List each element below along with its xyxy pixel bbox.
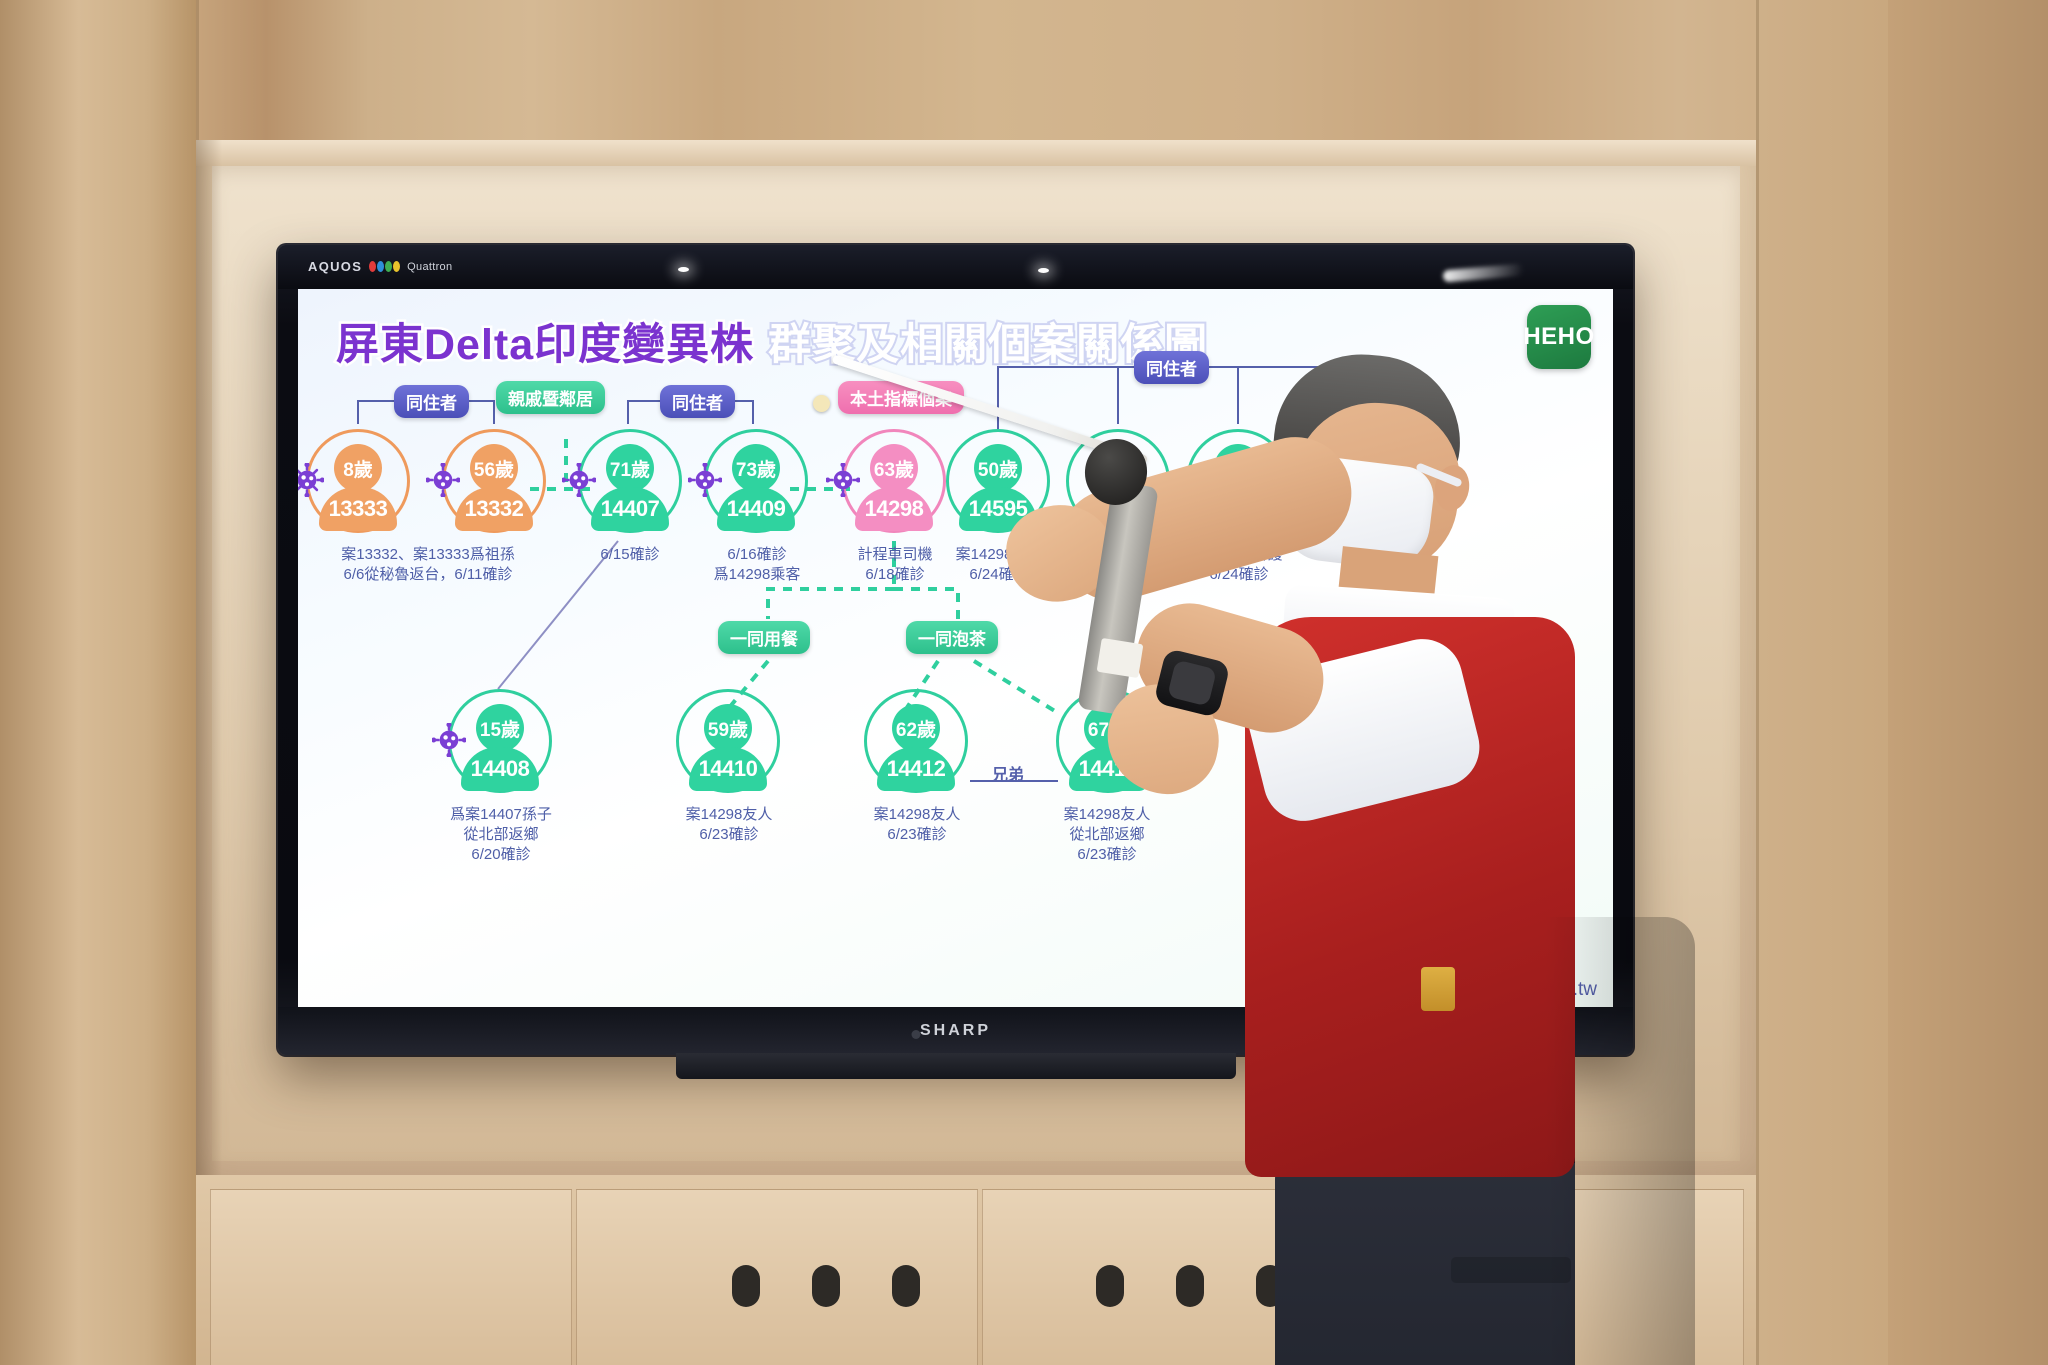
tv-led-left (678, 267, 689, 272)
case-node-14408[interactable]: 15歲 14408 (448, 689, 552, 793)
case-node-14409[interactable]: 73歲 14409 (704, 429, 808, 533)
sharp-wordmark: SHARP (920, 1022, 991, 1040)
tv-top-bezel: AQUOS Quattron (278, 245, 1633, 289)
case-age: 56歲 (470, 444, 518, 492)
relation-label-cohabitant-2: 同住者 (660, 385, 735, 418)
case-age: 63歲 (870, 444, 918, 492)
case-caption-14408: 爲案14407孫子 從北部返鄉 6/20確診 (426, 805, 576, 864)
tv-led-mid (1038, 268, 1049, 273)
case-node-13333[interactable]: 8歲 13333 (306, 429, 410, 533)
wall-left-panel (0, 0, 196, 1365)
tv-recess-lip (196, 140, 1756, 166)
virus-icon (688, 463, 722, 497)
case-caption-14407: 6/15確診 (560, 545, 700, 565)
presenter-trousers (1275, 1145, 1575, 1365)
aquos-wordmark: AQUOS (308, 259, 362, 274)
presenter (1125, 355, 1585, 1365)
relation-label-tea-together: 一同泡茶 (906, 621, 998, 654)
case-age: 71歲 (606, 444, 654, 492)
relation-label-cohabitant-1: 同住者 (394, 385, 469, 418)
virus-icon (432, 723, 466, 757)
pointer-stick-tip (813, 395, 830, 412)
relation-label-relative-neighbor: 親戚暨鄰居 (496, 381, 605, 414)
tv-bezel-glare (1443, 264, 1524, 283)
case-age: 73歲 (732, 444, 780, 492)
relation-label-dine-together: 一同用餐 (718, 621, 810, 654)
case-age: 15歲 (476, 704, 524, 752)
case-age: 62歲 (892, 704, 940, 752)
case-node-14407[interactable]: 71歲 14407 (578, 429, 682, 533)
quattron-wordmark: Quattron (407, 261, 452, 273)
wall-right-panel (1888, 0, 2048, 1365)
case-age: 50歲 (974, 444, 1022, 492)
cabinet-door-1[interactable] (210, 1189, 572, 1365)
case-node-14410[interactable]: 59歲 14410 (676, 689, 780, 793)
watch-face (1167, 659, 1217, 706)
aquos-brand-badge: AQUOS Quattron (308, 259, 452, 274)
relation-label-brothers: 兄弟 (992, 761, 1024, 785)
recess-shadow (196, 140, 222, 1175)
cabinet-vent-4 (1096, 1265, 1124, 1307)
case-age: 59歲 (704, 704, 752, 752)
screenshot-root: AQUOS Quattron 屏東Delta印度變異株 群聚及相關個案關係圖 H… (0, 0, 2048, 1365)
case-caption-14409: 6/16確診 爲14298乘客 (682, 545, 832, 585)
cabinet-vent-2 (812, 1265, 840, 1307)
case-age: 8歲 (334, 444, 382, 492)
case-node-14298[interactable]: 63歲 14298 (842, 429, 946, 533)
case-node-14412[interactable]: 62歲 14412 (864, 689, 968, 793)
virus-icon (826, 463, 860, 497)
vest-shading (1545, 917, 1695, 1365)
virus-icon (298, 463, 324, 497)
virus-icon (426, 463, 460, 497)
case-caption-14410: 案14298友人 6/23確診 (654, 805, 804, 845)
virus-icon (562, 463, 596, 497)
quattron-dots-icon (369, 261, 400, 272)
tv-ir-sensor (911, 1030, 920, 1039)
cabinet-vent-1 (732, 1265, 760, 1307)
cabinet-vent-3 (892, 1265, 920, 1307)
case-caption-14412: 案14298友人 6/23確診 (842, 805, 992, 845)
vest-emblem (1421, 967, 1455, 1011)
microphone-label (1097, 638, 1144, 678)
vest-pocket (1451, 1257, 1571, 1283)
case-node-13332[interactable]: 56歲 13332 (442, 429, 546, 533)
case-caption-13333: 案13332、案13333爲祖孫 6/6從秘魯返台，6/11確診 (308, 545, 548, 585)
wall-seam-right (1756, 0, 1759, 1365)
